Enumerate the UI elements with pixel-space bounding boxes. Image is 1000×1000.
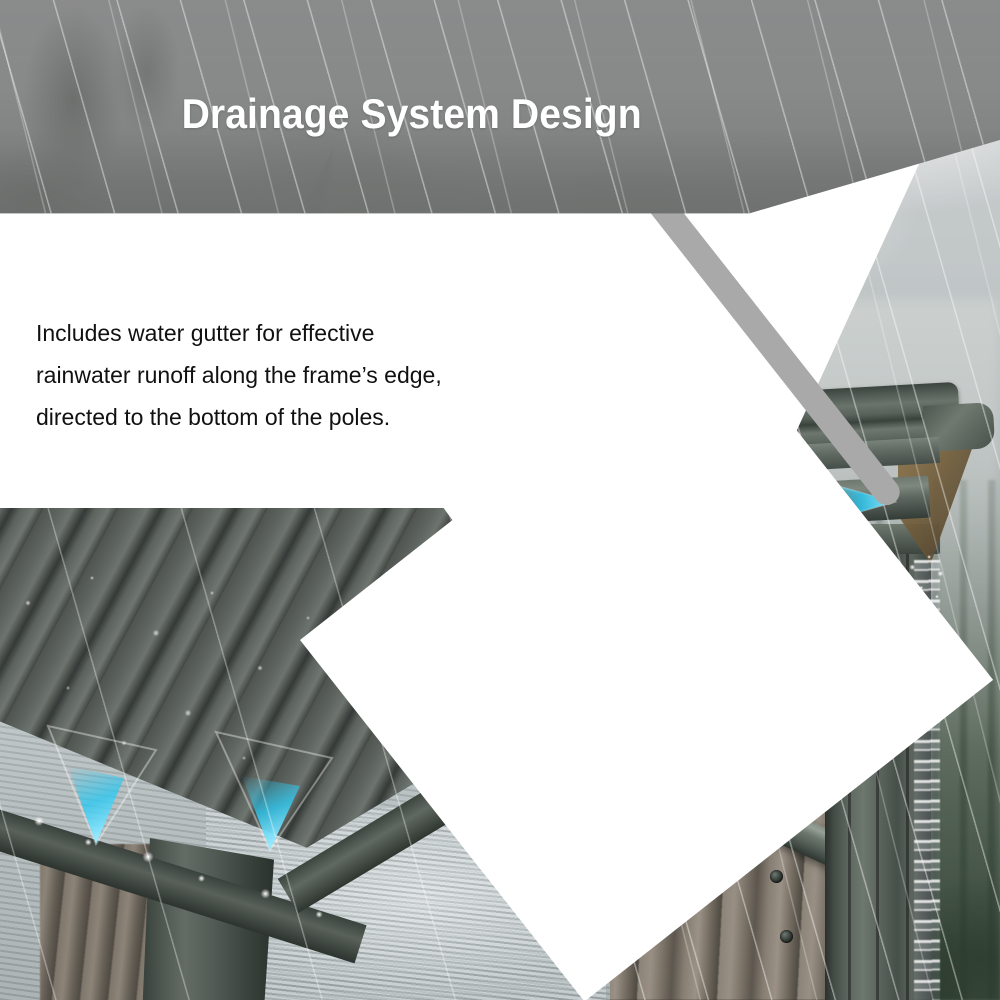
screw-head [770, 870, 783, 883]
description-text: Includes water gutter for effective rain… [36, 312, 506, 438]
product-feature-image: Drainage System Design Includes water gu… [0, 0, 1000, 1000]
page-title: Drainage System Design [35, 90, 965, 138]
flow-arrow-down-right [208, 724, 338, 854]
flow-arrow-down-left [42, 720, 162, 850]
description-line-2: rainwater runoff along the frame’s edge, [36, 354, 506, 396]
description-line-3: directed to the bottom of the poles. [36, 396, 506, 438]
screw-head [780, 930, 793, 943]
description-line-1: Includes water gutter for effective [36, 312, 506, 354]
